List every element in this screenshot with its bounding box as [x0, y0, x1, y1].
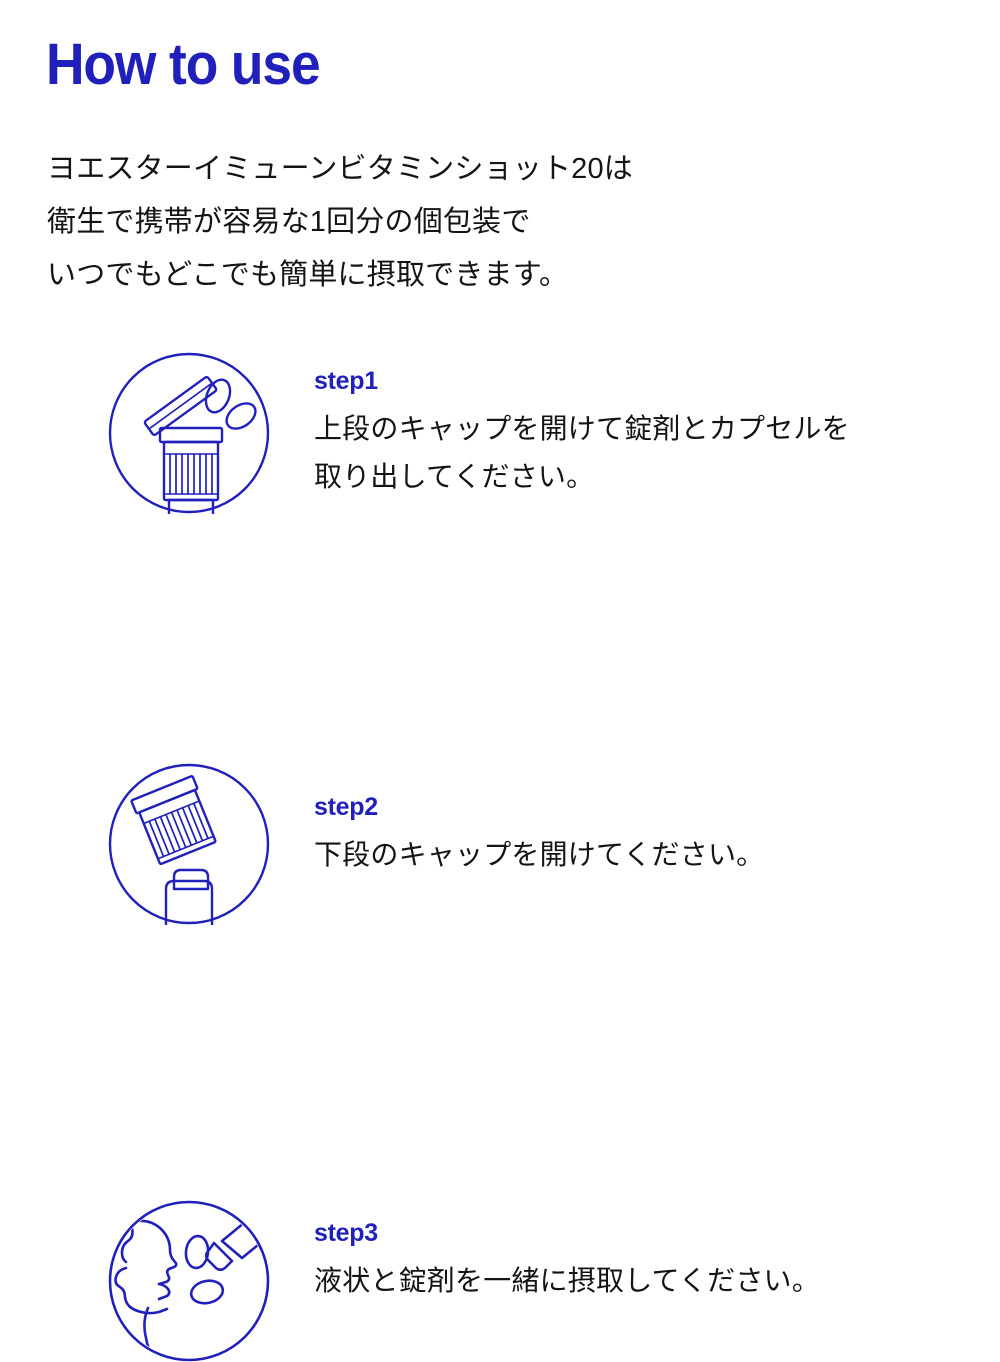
how-to-use-page: How to use ヨエスターイミューンビタミンショット20は 衛生で携帯が容…: [0, 0, 1000, 1000]
intro-paragraph: ヨエスターイミューンビタミンショット20は 衛生で携帯が容易な1回分の個包装で …: [47, 143, 633, 302]
step-description: 上段のキャップを開けて錠剤とカプセルを 取り出してください。: [314, 405, 954, 501]
step-label: step3: [314, 1218, 954, 1248]
step-item: step1 上段のキャップを開けて錠剤とカプセルを 取り出してください。: [0, 350, 1000, 560]
step-description: 液状と錠剤を一緒に摂取してください。: [314, 1257, 954, 1305]
open-cap-bottle-with-pills-icon: [108, 352, 270, 514]
step-text-block: step1 上段のキャップを開けて錠剤とカプセルを 取り出してください。: [314, 366, 954, 501]
step-text-block: step3 液状と錠剤を一緒に摂取してください。: [314, 1218, 954, 1305]
intro-line-1: ヨエスターイミューンビタミンショット20は: [47, 143, 633, 196]
step-item: step2 下段のキャップを開けてください。: [0, 560, 1000, 778]
step-item: step3 液状と錠剤を一緒に摂取してください。: [0, 778, 1000, 988]
step-description-line: 取り出してください。: [314, 453, 954, 501]
intro-line-2: 衛生で携帯が容易な1回分の個包装で: [47, 196, 633, 249]
page-title: How to use: [46, 35, 320, 96]
step-label: step1: [314, 366, 954, 396]
step-description-line: 上段のキャップを開けて錠剤とカプセルを: [314, 405, 954, 453]
step-description-line: 液状と錠剤を一緒に摂取してください。: [314, 1257, 954, 1305]
face-taking-pills-icon: [108, 1200, 270, 1362]
intro-line-3: いつでもどこでも簡単に摂取できます。: [47, 249, 633, 302]
steps-list: step1 上段のキャップを開けて錠剤とカプセルを 取り出してください。: [0, 350, 1000, 988]
